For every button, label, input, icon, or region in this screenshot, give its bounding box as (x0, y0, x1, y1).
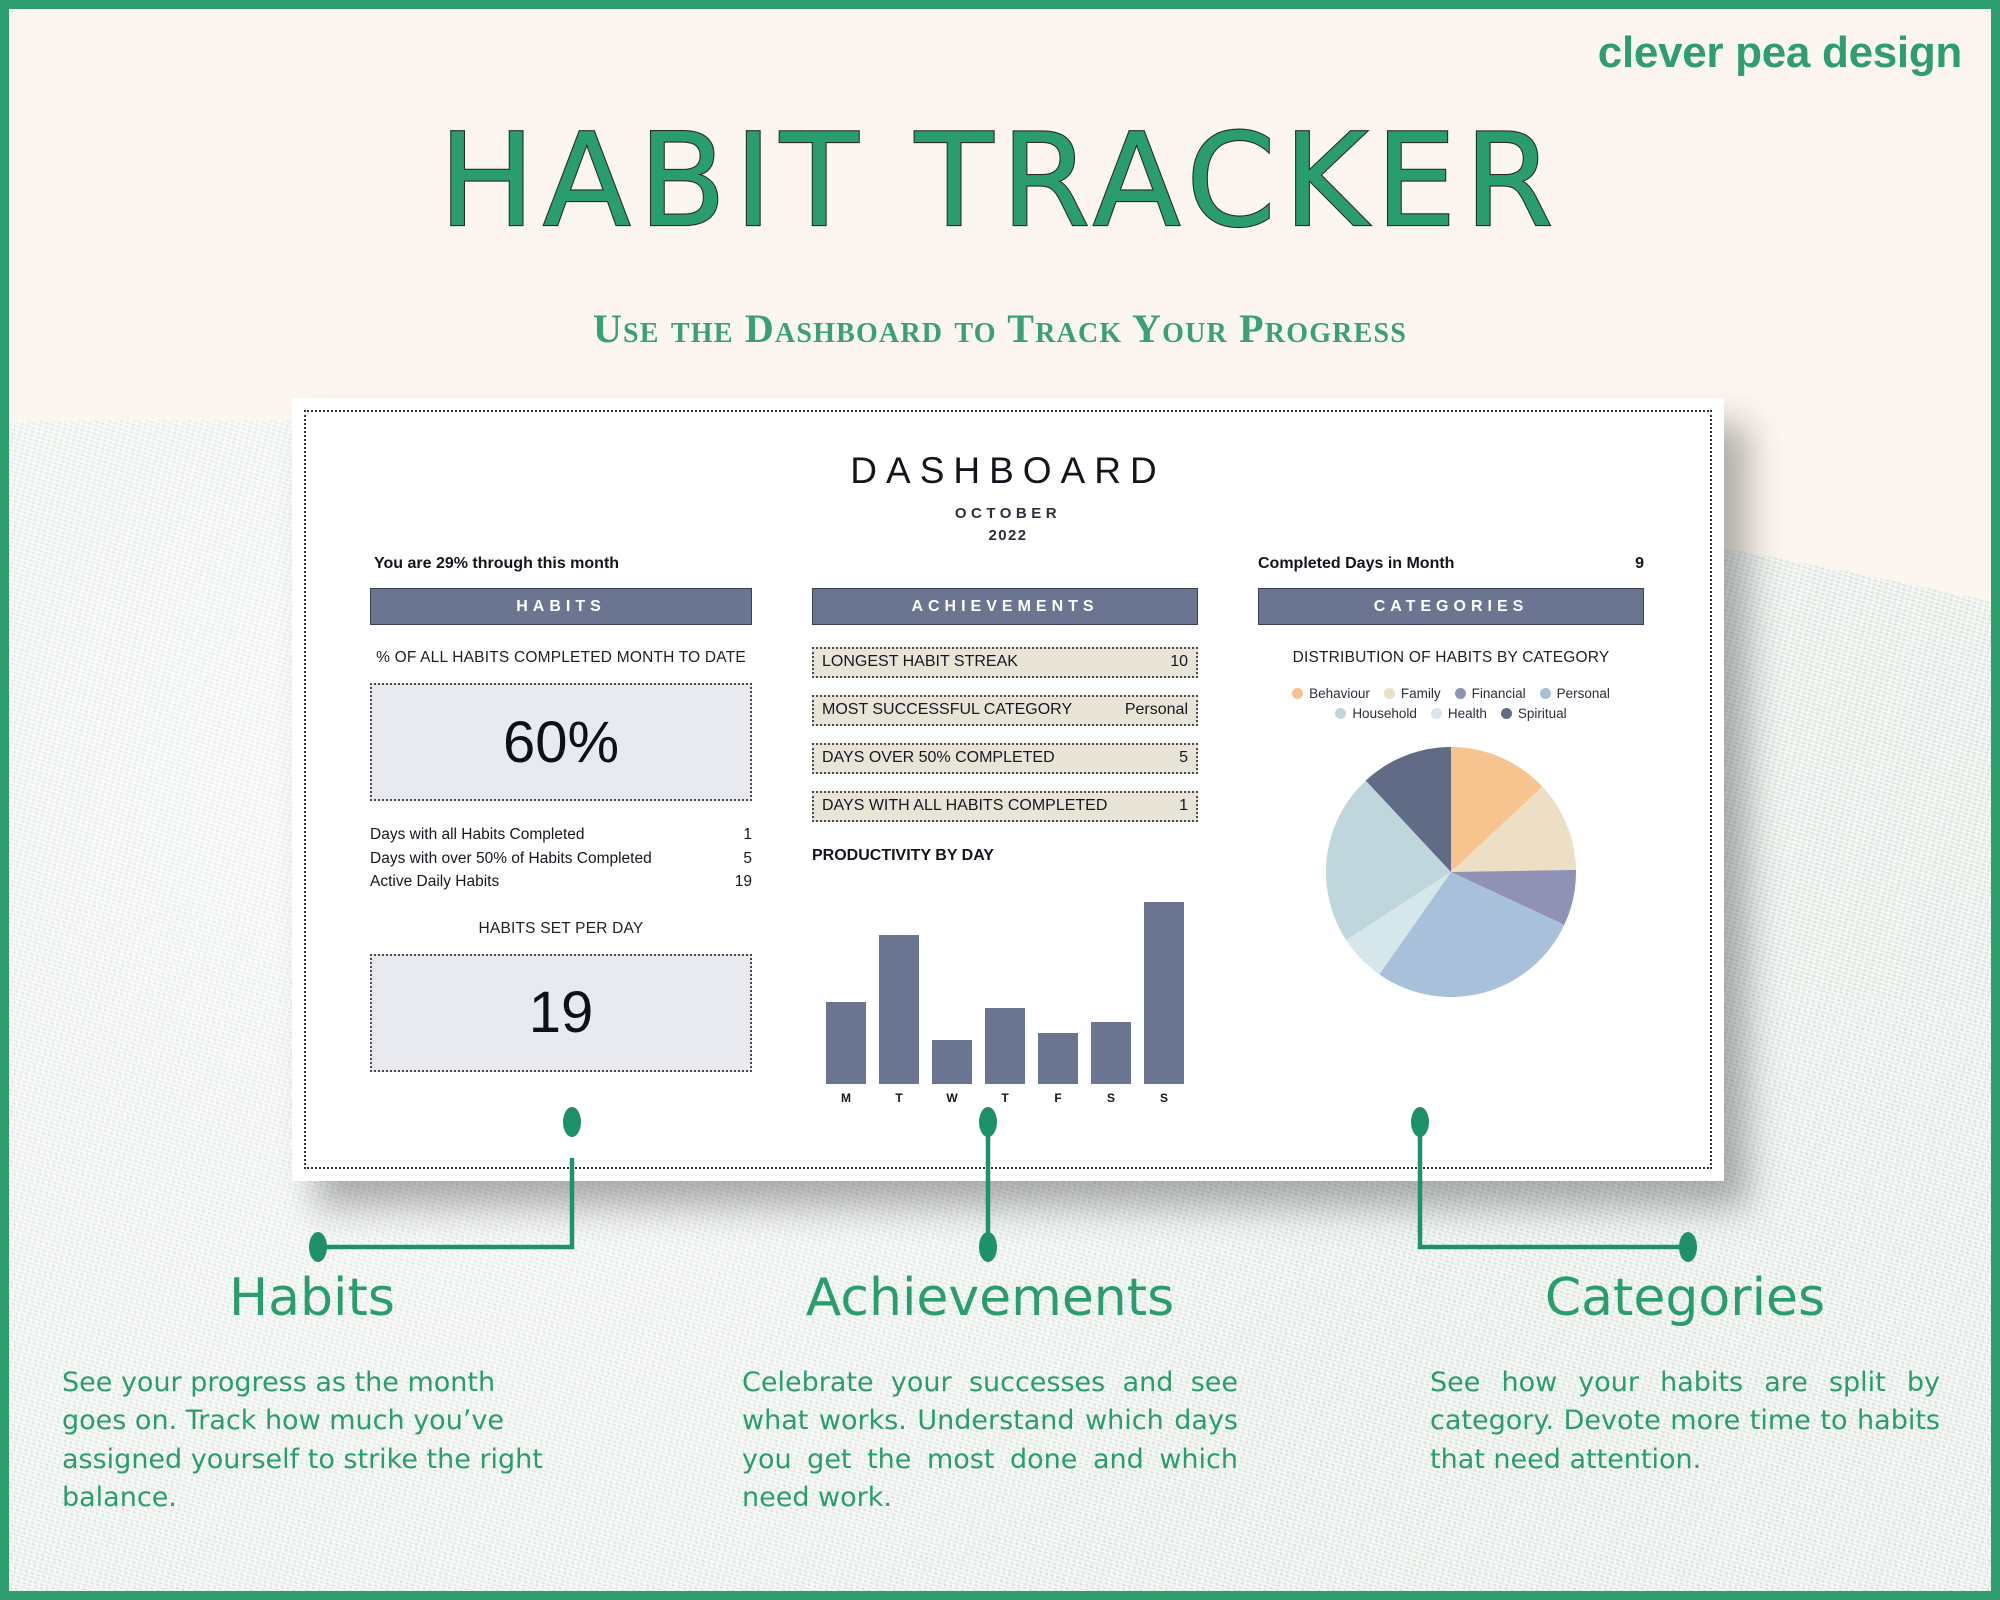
bar-label: F (1054, 1091, 1061, 1105)
dashboard-card: DASHBOARD OCTOBER 2022 You are 29% throu… (292, 398, 1724, 1181)
bar (826, 1002, 866, 1084)
achievement-value: 5 (1179, 749, 1188, 767)
pie-chart-container (1258, 737, 1644, 1007)
categories-panel: CATEGORIES DISTRIBUTION OF HABITS BY CAT… (1258, 588, 1644, 1007)
legend-item: Behaviour (1292, 686, 1370, 701)
dashboard-inner-border: DASHBOARD OCTOBER 2022 You are 29% throu… (304, 410, 1712, 1169)
legend-label: Behaviour (1309, 686, 1370, 701)
achievement-value: 1 (1179, 797, 1188, 815)
bottom-section-achievements: Achievements Celebrate your successes an… (742, 1268, 1238, 1517)
habits-stat-row: Days with over 50% of Habits Completed5 (370, 847, 752, 871)
bar-column: M (826, 1002, 866, 1105)
bar-label: T (895, 1091, 902, 1105)
achievements-panel: ACHIEVEMENTS LONGEST HABIT STREAK10MOST … (812, 588, 1198, 1105)
pie-chart (1316, 737, 1586, 1007)
month-progress-note: You are 29% through this month (374, 555, 619, 573)
habits-panel: HABITS % OF ALL HABITS COMPLETED MONTH T… (370, 588, 752, 1072)
bottom-body-achievements: Celebrate your successes and see what wo… (742, 1364, 1238, 1517)
legend-item: Household (1335, 706, 1417, 721)
achievement-label: LONGEST HABIT STREAK (822, 653, 1018, 671)
achievement-label: DAYS OVER 50% COMPLETED (822, 749, 1055, 767)
achievement-row: MOST SUCCESSFUL CATEGORYPersonal (812, 695, 1198, 726)
legend-label: Health (1448, 706, 1487, 721)
legend-color-swatch (1292, 688, 1303, 699)
legend-color-swatch (1335, 708, 1346, 719)
bar-column: W (932, 1040, 972, 1105)
brand-logo: clever pea design (1598, 28, 1962, 78)
legend-label: Personal (1557, 686, 1610, 701)
habits-stats-list: Days with all Habits Completed1Days with… (370, 823, 752, 894)
bar-column: S (1144, 902, 1184, 1105)
habits-per-day-value: 19 (529, 979, 594, 1046)
bar (879, 935, 919, 1084)
habits-stat-row: Days with all Habits Completed1 (370, 823, 752, 847)
page-title: HABIT TRACKER (0, 118, 2000, 246)
bar-column: S (1091, 1022, 1131, 1105)
habits-per-day-caption: HABITS SET PER DAY (370, 920, 752, 938)
legend-item: Spiritual (1501, 706, 1567, 721)
completed-days-row: Completed Days in Month 9 (1258, 555, 1644, 573)
habits-percent-value: 60% (503, 709, 619, 776)
categories-panel-header: CATEGORIES (1258, 588, 1644, 625)
achievement-label: MOST SUCCESSFUL CATEGORY (822, 701, 1072, 719)
legend-color-swatch (1384, 688, 1395, 699)
achievements-panel-header: ACHIEVEMENTS (812, 588, 1198, 625)
completed-days-value: 9 (1635, 555, 1644, 573)
habits-stat-row: Active Daily Habits19 (370, 870, 752, 894)
legend-color-swatch (1455, 688, 1466, 699)
bar-label: S (1160, 1091, 1168, 1105)
bar (932, 1040, 972, 1084)
habits-percent-caption: % OF ALL HABITS COMPLETED MONTH TO DATE (370, 649, 752, 667)
productivity-chart-title: PRODUCTIVITY BY DAY (812, 847, 1198, 865)
achievement-value: 10 (1170, 653, 1188, 671)
achievement-row: DAYS OVER 50% COMPLETED5 (812, 743, 1198, 774)
legend-item: Personal (1540, 686, 1610, 701)
bar-column: F (1038, 1033, 1078, 1105)
achievement-label: DAYS WITH ALL HABITS COMPLETED (822, 797, 1107, 815)
bottom-body-categories: See how your habits are split by categor… (1430, 1364, 1940, 1479)
achievement-value: Personal (1125, 701, 1188, 719)
bar (1091, 1022, 1131, 1084)
habits-stat-value: 19 (735, 870, 752, 894)
bar-label: T (1001, 1091, 1008, 1105)
legend-item: Family (1384, 686, 1441, 701)
legend-item: Health (1431, 706, 1487, 721)
bottom-title-achievements: Achievements (742, 1268, 1238, 1328)
dashboard-month: OCTOBER (306, 505, 1710, 522)
habits-stat-label: Active Daily Habits (370, 870, 499, 894)
dashboard-title: DASHBOARD (306, 450, 1710, 492)
pie-chart-legend: BehaviourFamilyFinancialPersonalHousehol… (1258, 686, 1644, 721)
legend-color-swatch (1431, 708, 1442, 719)
habits-panel-header: HABITS (370, 588, 752, 625)
legend-label: Household (1352, 706, 1417, 721)
habits-stat-label: Days with all Habits Completed (370, 823, 585, 847)
habits-per-day-box: 19 (370, 954, 752, 1072)
legend-label: Spiritual (1518, 706, 1567, 721)
habits-stat-value: 1 (743, 823, 752, 847)
bar (1038, 1033, 1078, 1084)
bar (985, 1008, 1025, 1084)
page-subtitle: Use the Dashboard to Track Your Progress (0, 305, 2000, 352)
legend-color-swatch (1501, 708, 1512, 719)
bottom-body-habits: See your progress as the month goes on. … (62, 1364, 562, 1517)
habits-percent-box: 60% (370, 683, 752, 801)
dashboard-year: 2022 (306, 527, 1710, 544)
completed-days-label: Completed Days in Month (1258, 555, 1454, 573)
legend-label: Financial (1472, 686, 1526, 701)
legend-item: Financial (1455, 686, 1526, 701)
legend-label: Family (1401, 686, 1441, 701)
categories-caption: DISTRIBUTION OF HABITS BY CATEGORY (1258, 649, 1644, 667)
bar-column: T (985, 1008, 1025, 1105)
bottom-section-categories: Categories See how your habits are split… (1430, 1268, 1940, 1479)
habits-stat-value: 5 (743, 847, 752, 871)
achievements-rows: LONGEST HABIT STREAK10MOST SUCCESSFUL CA… (812, 647, 1198, 822)
bottom-title-habits: Habits (62, 1268, 562, 1328)
habits-stat-label: Days with over 50% of Habits Completed (370, 847, 652, 871)
bar (1144, 902, 1184, 1084)
bottom-section-habits: Habits See your progress as the month go… (62, 1268, 562, 1517)
bar-label: M (841, 1091, 851, 1105)
legend-color-swatch (1540, 688, 1551, 699)
bar-label: W (946, 1091, 957, 1105)
achievement-row: DAYS WITH ALL HABITS COMPLETED1 (812, 791, 1198, 822)
bar-column: T (879, 935, 919, 1105)
achievement-row: LONGEST HABIT STREAK10 (812, 647, 1198, 678)
bottom-title-categories: Categories (1430, 1268, 1940, 1328)
bar-label: S (1107, 1091, 1115, 1105)
productivity-bar-chart: MTWTFSS (812, 883, 1198, 1105)
